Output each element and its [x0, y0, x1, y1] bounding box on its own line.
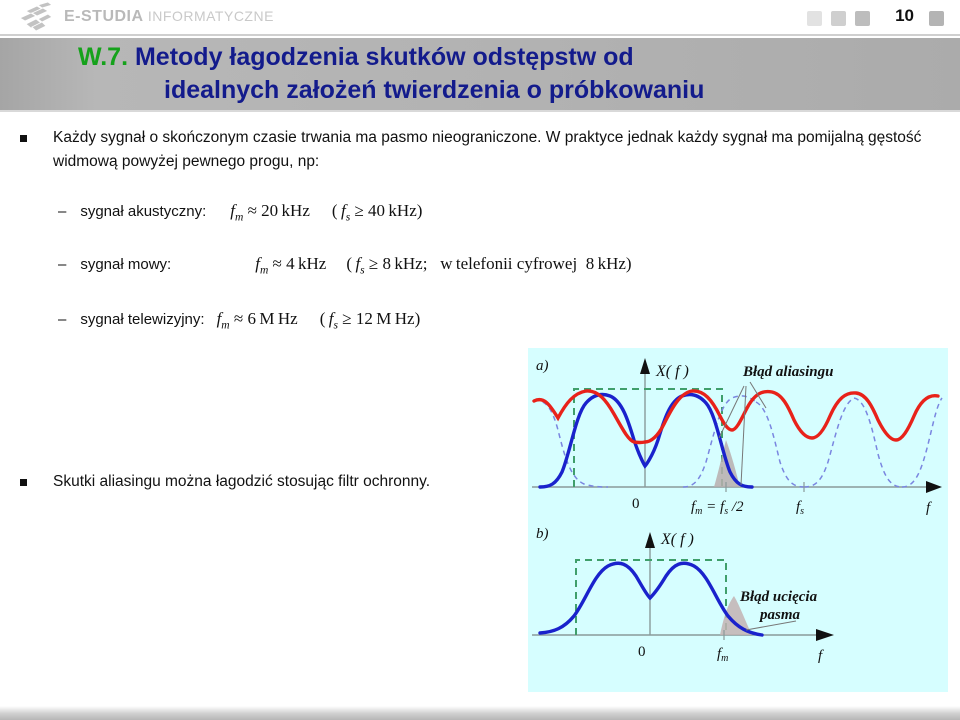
header-square-group — [807, 11, 870, 26]
header-bar: E-STUDIA INFORMATYCZNE 10 — [0, 0, 960, 36]
slide: E-STUDIA INFORMATYCZNE 10 W.7. Metody ła… — [0, 0, 960, 720]
sub-item-label: sygnał akustyczny: — [80, 203, 206, 220]
spectrum-figure: a) — [528, 348, 948, 692]
square-light-icon — [807, 11, 822, 26]
sub-item-label: sygnał telewizyjny: — [80, 311, 204, 328]
title-line1: Metody łagodzenia skutków odstępstw od — [135, 43, 634, 71]
brand-sub: INFORMATYCZNE — [148, 8, 274, 24]
panel-b-tick-label-origin: 0 — [638, 644, 646, 660]
panel-b-y-axis-label: X( f ) — [660, 531, 694, 548]
formula-fs-speech: ( fs ≥ 8 kHz; w telefonii cyfrowej 8 kHz… — [346, 254, 631, 276]
formula-fs-television: ( fs ≥ 12 M Hz) — [320, 309, 421, 331]
panel-a-annotation: Błąd aliasingu — [742, 364, 833, 380]
sub-item-acoustic: – sygnał akustyczny: fm ≈ 20 kHz ( fs ≥ … — [58, 201, 422, 223]
dash-marker: – — [58, 311, 66, 328]
spectrum-figure-svg: a) — [528, 348, 948, 692]
square-mid-icon — [831, 11, 846, 26]
footer-bar — [0, 706, 960, 720]
formula-fs-acoustic: ( fs ≥ 40 kHz) — [332, 201, 423, 223]
title-line2: idealnych założeń twierdzenia o próbkowa… — [78, 74, 948, 107]
formula-fm-acoustic: fm ≈ 20 kHz — [230, 201, 310, 223]
panel-b-label: b) — [536, 526, 549, 542]
title-band: W.7. Metody łagodzenia skutków odstępstw… — [0, 38, 960, 112]
title-prefix: W.7. — [78, 43, 128, 71]
bullet-2-text: Skutki aliasingu można łagodzić stosując… — [53, 470, 430, 494]
panel-a-tick-label-origin: 0 — [632, 496, 640, 512]
panel-b-annotation-line1: Błąd ucięcia — [739, 589, 818, 605]
square-bullet-icon — [20, 135, 27, 142]
square-bullet-icon — [20, 479, 27, 486]
sub-item-speech: – sygnał mowy: fm ≈ 4 kHz ( fs ≥ 8 kHz; … — [58, 254, 632, 276]
panel-a-y-axis-label: X( f ) — [655, 363, 689, 380]
panel-a-label: a) — [536, 358, 549, 374]
square-dark-icon — [855, 11, 870, 26]
bullet-item-2: Skutki aliasingu można łagodzić stosując… — [20, 470, 540, 494]
square-right-icon — [929, 11, 944, 26]
dash-marker: – — [58, 203, 66, 220]
dash-marker: – — [58, 256, 66, 273]
formula-fm-television: fm ≈ 6 M Hz — [217, 309, 298, 331]
brand-title: E-STUDIA INFORMATYCZNE — [64, 8, 274, 26]
page-title: W.7. Metody łagodzenia skutków odstępstw… — [78, 41, 948, 107]
page-number: 10 — [895, 6, 914, 26]
formula-fm-speech: fm ≈ 4 kHz — [255, 254, 326, 276]
brand-main: E-STUDIA — [64, 8, 143, 25]
bullet-1-text: Każdy sygnał o skończonym czasie trwania… — [53, 126, 940, 174]
sub-item-television: – sygnał telewizyjny: fm ≈ 6 M Hz ( fs ≥… — [58, 309, 420, 331]
sub-item-label: sygnał mowy: — [80, 256, 171, 273]
panel-b-annotation-line2: pasma — [758, 607, 801, 623]
tilted-tiles-logo-icon — [16, 2, 60, 34]
bullet-item-1: Każdy sygnał o skończonym czasie trwania… — [20, 126, 940, 174]
